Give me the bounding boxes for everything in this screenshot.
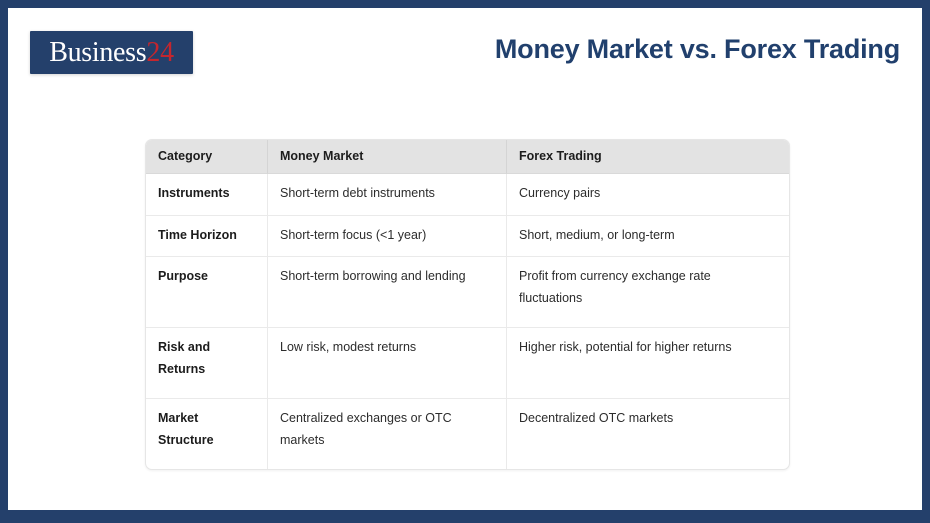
- comparison-table-container: Category Money Market Forex Trading Inst…: [145, 139, 788, 470]
- cell-money-market: Centralized exchanges or OTC markets: [268, 398, 507, 469]
- table-body: Instruments Short-term debt instruments …: [146, 174, 789, 469]
- column-header-category: Category: [146, 140, 268, 174]
- cell-money-market: Short-term borrowing and lending: [268, 256, 507, 327]
- cell-category: Instruments: [146, 174, 268, 215]
- slide-canvas: Business24 Money Market vs. Forex Tradin…: [8, 8, 922, 510]
- cell-forex-trading: Higher risk, potential for higher return…: [507, 327, 789, 398]
- table-row: Risk and Returns Low risk, modest return…: [146, 327, 789, 398]
- brand-logo-word: Business: [49, 37, 146, 68]
- brand-logo-text: Business24: [49, 39, 174, 67]
- cell-forex-trading: Profit from currency exchange rate fluct…: [507, 256, 789, 327]
- cell-money-market: Short-term debt instruments: [268, 174, 507, 215]
- cell-money-market: Low risk, modest returns: [268, 327, 507, 398]
- table-row: Instruments Short-term debt instruments …: [146, 174, 789, 215]
- table-header-row: Category Money Market Forex Trading: [146, 140, 789, 174]
- cell-category: Time Horizon: [146, 215, 268, 257]
- table-row: Time Horizon Short-term focus (<1 year) …: [146, 215, 789, 257]
- cell-forex-trading: Short, medium, or long-term: [507, 215, 789, 257]
- cell-forex-trading: Currency pairs: [507, 174, 789, 215]
- column-header-forex-trading: Forex Trading: [507, 140, 789, 174]
- comparison-table: Category Money Market Forex Trading Inst…: [145, 139, 790, 470]
- cell-money-market: Short-term focus (<1 year): [268, 215, 507, 257]
- cell-forex-trading: Decentralized OTC markets: [507, 398, 789, 469]
- table-row: Purpose Short-term borrowing and lending…: [146, 256, 789, 327]
- brand-logo-number: 24: [146, 37, 173, 68]
- column-header-money-market: Money Market: [268, 140, 507, 174]
- brand-logo: Business24: [30, 31, 193, 74]
- page-title: Money Market vs. Forex Trading: [495, 34, 900, 65]
- cell-category: Risk and Returns: [146, 327, 268, 398]
- table-header: Category Money Market Forex Trading: [146, 140, 789, 174]
- slide-frame: Business24 Money Market vs. Forex Tradin…: [0, 0, 930, 523]
- cell-category: Purpose: [146, 256, 268, 327]
- table-row: Market Structure Centralized exchanges o…: [146, 398, 789, 469]
- cell-category: Market Structure: [146, 398, 268, 469]
